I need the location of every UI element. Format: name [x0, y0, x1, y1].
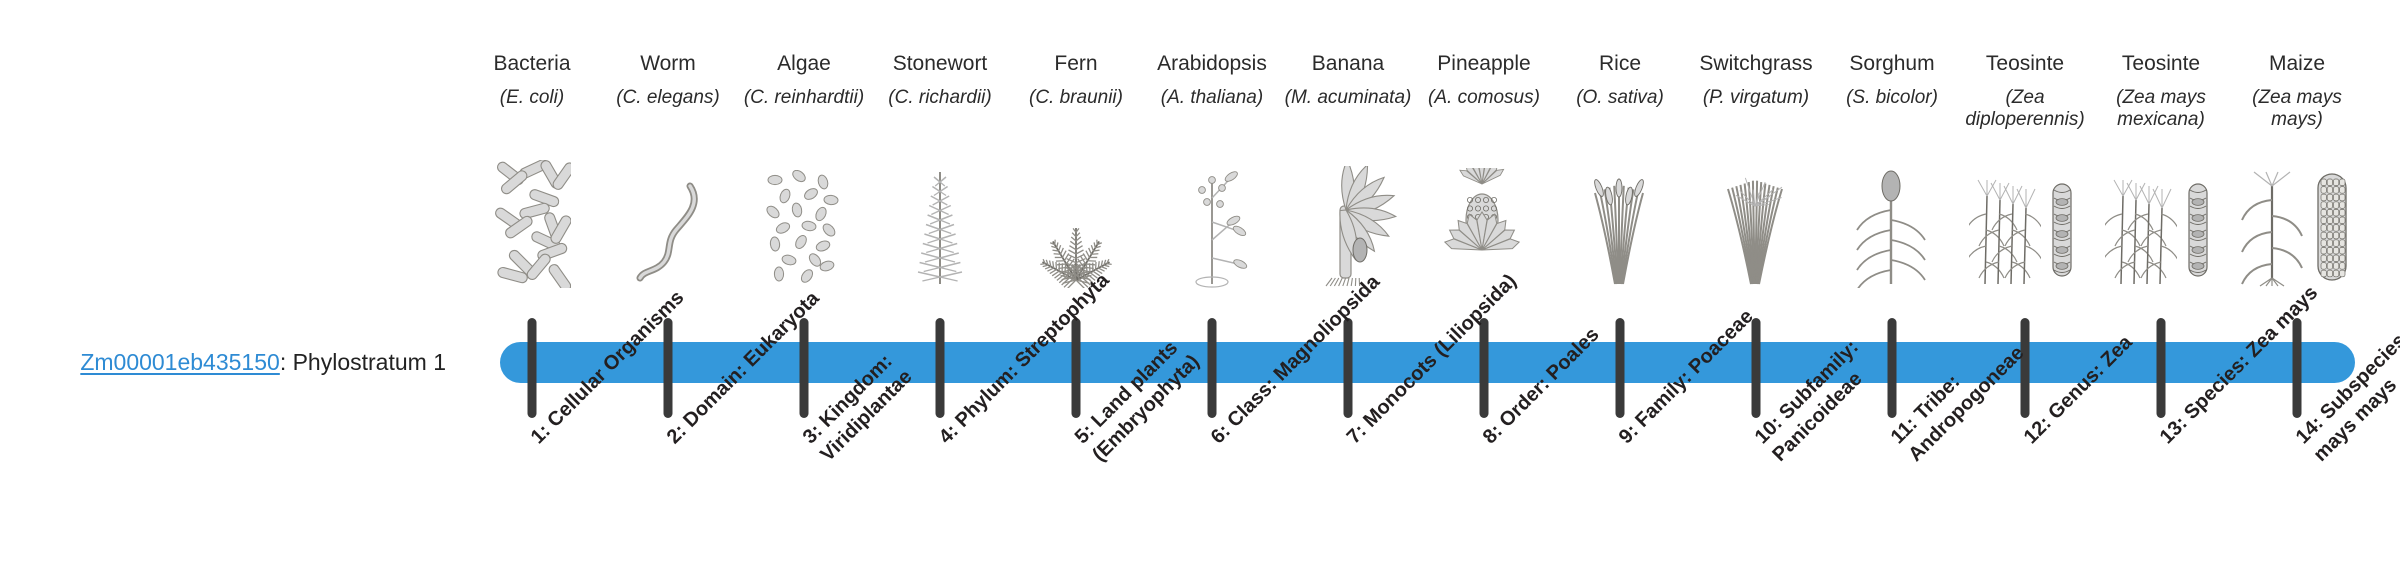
species-common-name: Sorghum — [1827, 52, 1957, 76]
species-header-4: Stonewort(C. richardii) — [875, 52, 1005, 109]
phylostratum-tick-13[interactable] — [2157, 318, 2166, 418]
species-latin-name: (Zea mays mexicana) — [2096, 87, 2226, 131]
species-common-name: Switchgrass — [1691, 52, 1821, 76]
species-latin-name: (S. bicolor) — [1827, 87, 1957, 109]
species-latin-name: (P. virgatum) — [1691, 87, 1821, 109]
species-common-name: Bacteria — [467, 52, 597, 76]
species-header-9: Rice(O. sativa) — [1555, 52, 1685, 109]
species-header-1: Bacteria(E. coli) — [467, 52, 597, 109]
species-common-name: Arabidopsis — [1147, 52, 1277, 76]
species-common-name: Worm — [603, 52, 733, 76]
species-latin-name: (Zea diploperennis) — [1960, 87, 2090, 131]
phylostratum-tick-8[interactable] — [1480, 318, 1489, 418]
switchgrass-icon — [1686, 168, 1826, 288]
algae-icon — [734, 168, 874, 288]
species-latin-name: (M. acuminata) — [1283, 87, 1413, 109]
species-header-7: Banana(M. acuminata) — [1283, 52, 1413, 109]
species-header-11: Sorghum(S. bicolor) — [1827, 52, 1957, 109]
teosinte-icon — [2091, 168, 2231, 288]
species-header-8: Pineapple(A. comosus) — [1419, 52, 1549, 109]
species-header-6: Arabidopsis(A. thaliana) — [1147, 52, 1277, 109]
species-header-14: Maize(Zea mays mays) — [2232, 52, 2362, 131]
species-common-name: Teosinte — [2096, 52, 2226, 76]
arabidopsis-icon — [1142, 168, 1282, 288]
species-common-name: Algae — [739, 52, 869, 76]
teosinte-icon — [1955, 168, 2095, 288]
bacteria-icon — [462, 168, 602, 288]
rice-icon — [1550, 168, 1690, 288]
phylostratum-tick-9[interactable] — [1616, 318, 1625, 418]
species-latin-name: (O. sativa) — [1555, 87, 1685, 109]
phylostratum-tick-7[interactable] — [1344, 318, 1353, 418]
worm-icon — [598, 168, 738, 288]
species-common-name: Maize — [2232, 52, 2362, 76]
phylostratum-tick-3[interactable] — [800, 318, 809, 418]
phylostratum-tick-2[interactable] — [664, 318, 673, 418]
phylostratum-figure: Zm00001eb435150: Phylostratum 1 Bacteria… — [0, 0, 2400, 580]
phylostratum-tick-5[interactable] — [1072, 318, 1081, 418]
species-header-12: Teosinte(Zea diploperennis) — [1960, 52, 2090, 131]
species-common-name: Banana — [1283, 52, 1413, 76]
species-header-13: Teosinte(Zea mays mexicana) — [2096, 52, 2226, 131]
species-common-name: Stonewort — [875, 52, 1005, 76]
phylostratum-tick-1[interactable] — [528, 318, 537, 418]
species-header-5: Fern(C. braunii) — [1011, 52, 1141, 109]
pineapple-icon — [1414, 168, 1554, 288]
species-common-name: Pineapple — [1419, 52, 1549, 76]
species-latin-name: (C. richardii) — [875, 87, 1005, 109]
sorghum-icon — [1822, 168, 1962, 288]
species-header-10: Switchgrass(P. virgatum) — [1691, 52, 1821, 109]
species-latin-name: (A. thaliana) — [1147, 87, 1277, 109]
species-header-2: Worm(C. elegans) — [603, 52, 733, 109]
species-header-3: Algae(C. reinhardtii) — [739, 52, 869, 109]
phylostratum-tick-10[interactable] — [1752, 318, 1761, 418]
phylostratum-tick-14[interactable] — [2293, 318, 2302, 418]
species-latin-name: (A. comosus) — [1419, 87, 1549, 109]
species-latin-name: (Zea mays mays) — [2232, 87, 2362, 131]
species-common-name: Rice — [1555, 52, 1685, 76]
species-common-name: Fern — [1011, 52, 1141, 76]
species-latin-name: (E. coli) — [467, 87, 597, 109]
stonewort-icon — [870, 168, 1010, 288]
species-latin-name: (C. reinhardtii) — [739, 87, 869, 109]
species-latin-name: (C. braunii) — [1011, 87, 1141, 109]
species-latin-name: (C. elegans) — [603, 87, 733, 109]
fern-icon — [1006, 168, 1146, 288]
species-common-name: Teosinte — [1960, 52, 2090, 76]
banana-icon — [1278, 168, 1418, 288]
maize-icon — [2227, 168, 2367, 288]
